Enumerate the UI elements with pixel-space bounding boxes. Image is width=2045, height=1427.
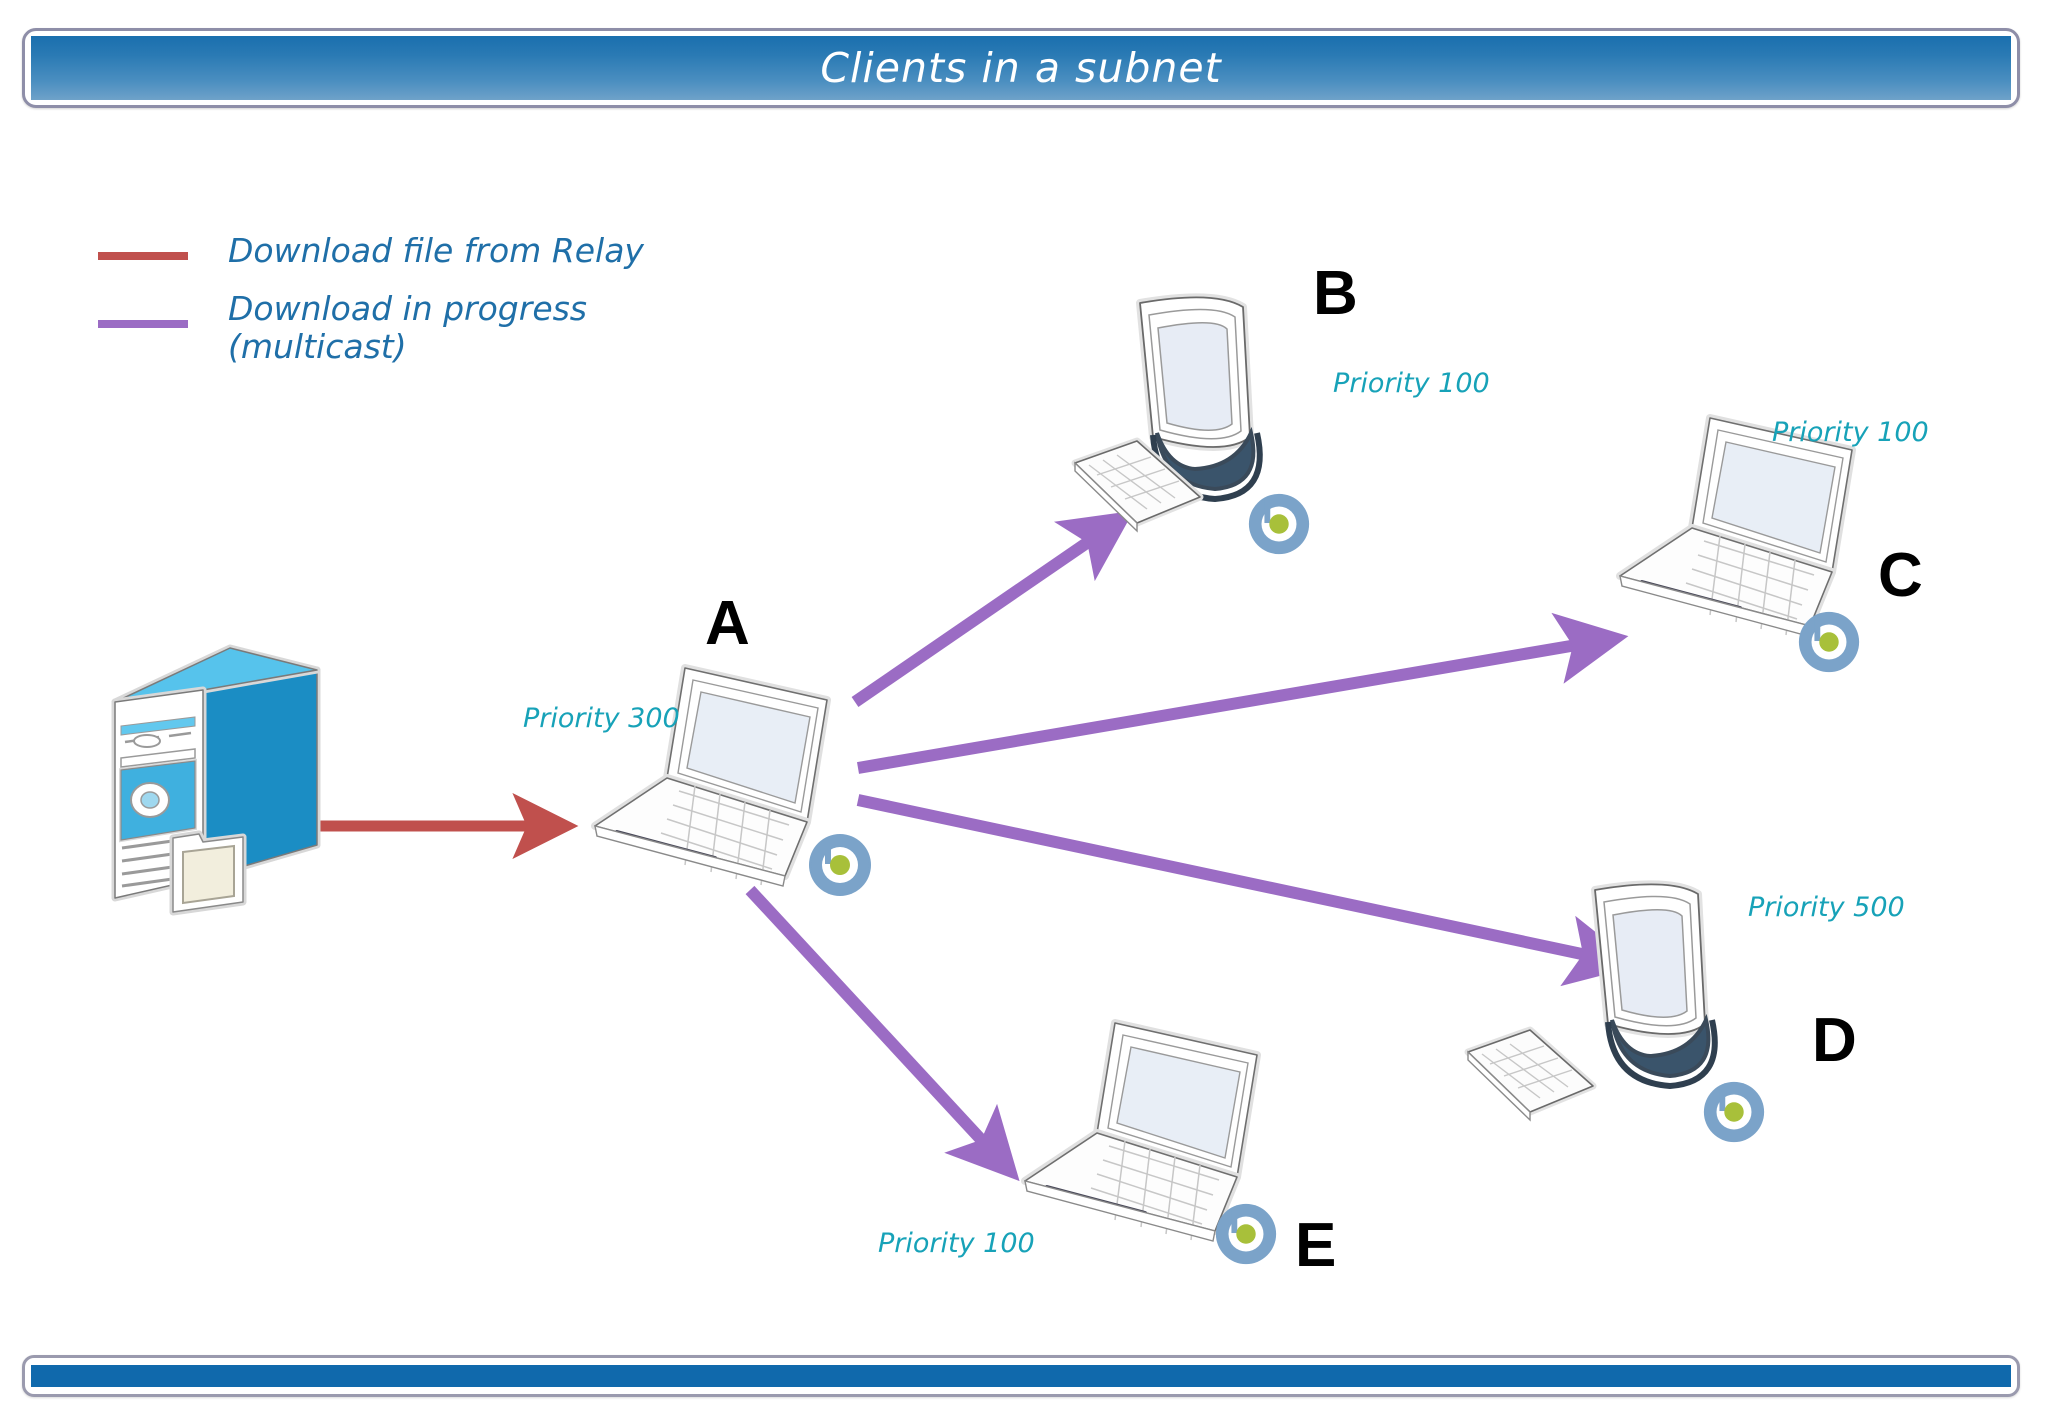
line-swatch-purple-icon — [98, 320, 188, 328]
bottom-bar — [22, 1355, 2020, 1397]
legend-item-label: Download in progress (multicast) — [228, 290, 587, 366]
legend-item-multicast: Download in progress (multicast) — [98, 290, 587, 366]
bottom-bar-fill — [31, 1365, 2011, 1387]
legend-item-label: Download file from Relay — [228, 232, 644, 270]
page-title: Clients in a subnet — [820, 44, 1221, 92]
title-bar-fill: Clients in a subnet — [31, 36, 2011, 100]
node-a-priority: Priority 300 — [523, 703, 680, 734]
legend-item-relay: Download file from Relay — [98, 232, 644, 270]
server-tower-icon — [95, 630, 335, 920]
node-b-badge-icon — [1245, 490, 1313, 558]
connection-a-to-c — [858, 641, 1600, 768]
node-d-badge-icon — [1700, 1078, 1768, 1146]
node-a-label: A — [705, 593, 750, 655]
title-bar: Clients in a subnet — [22, 28, 2020, 108]
node-b-priority: Priority 100 — [1333, 368, 1490, 399]
node-c-label: C — [1878, 545, 1923, 607]
node-c-priority: Priority 100 — [1772, 417, 1929, 448]
connection-a-to-b — [855, 527, 1110, 702]
node-e-label: E — [1295, 1215, 1336, 1277]
line-swatch-red-icon — [98, 252, 188, 260]
connection-a-to-e — [750, 890, 1000, 1160]
node-b-label: B — [1313, 263, 1358, 325]
node-e-priority: Priority 100 — [878, 1228, 1035, 1259]
node-a-badge-icon — [805, 830, 875, 900]
node-d-label: D — [1812, 1010, 1857, 1072]
node-e-badge-icon — [1212, 1200, 1280, 1268]
connection-a-to-d — [858, 800, 1610, 960]
node-server-tower[interactable] — [95, 630, 335, 920]
node-d-priority: Priority 500 — [1748, 892, 1905, 923]
node-c-badge-icon — [1795, 608, 1863, 676]
